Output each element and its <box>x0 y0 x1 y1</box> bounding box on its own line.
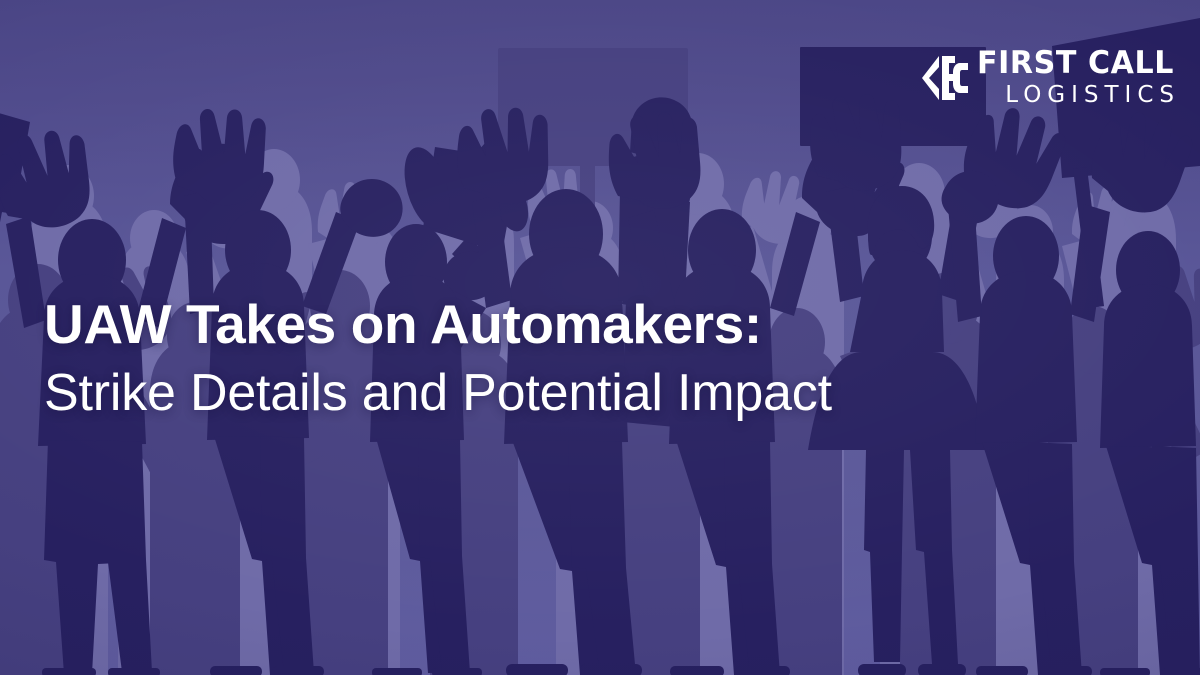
brand-logo[interactable]: FIRST CALL LOGISTICS <box>922 48 1180 107</box>
brand-name-line-2: LOGISTICS <box>977 84 1180 107</box>
headline-block: UAW Takes on Automakers: Strike Details … <box>44 296 944 421</box>
headline-line-1: UAW Takes on Automakers: <box>44 296 944 352</box>
first-call-arrow-c-icon <box>922 52 968 104</box>
brand-wordmark: FIRST CALL LOGISTICS <box>977 48 1180 107</box>
brand-name-line-1: FIRST CALL <box>977 48 1174 79</box>
headline-line-2: Strike Details and Potential Impact <box>44 366 944 421</box>
hero-banner: UAW Takes on Automakers: Strike Details … <box>0 0 1200 675</box>
